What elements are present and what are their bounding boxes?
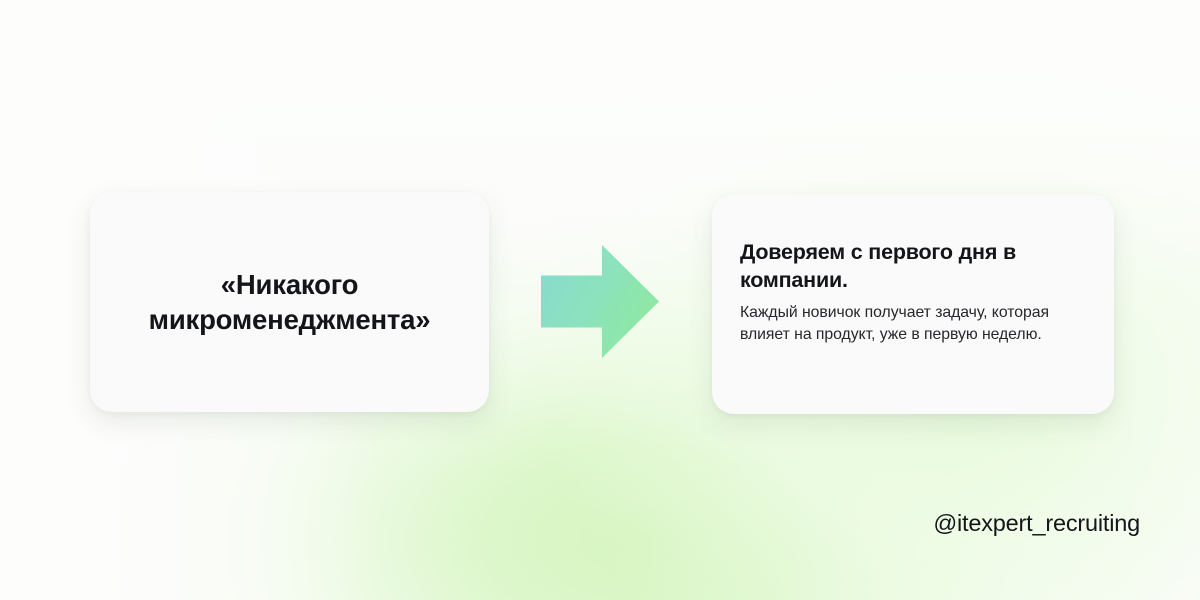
answer-heading: Доверяем с первого дня в компании. [740,239,1070,295]
quote-card: «Никакого микроменеджмента» [90,192,489,412]
arrow-right-icon [540,244,660,359]
answer-card: Доверяем с первого дня в компании. Кажды… [712,194,1114,414]
social-handle: @itexpert_recruiting [933,510,1140,537]
quote-text: «Никакого микроменеджмента» [120,267,460,337]
answer-body: Каждый новичок получает задачу, которая … [740,302,1070,345]
slide-canvas: «Никакого микроменеджмента» Доверяем с п… [0,0,1200,600]
